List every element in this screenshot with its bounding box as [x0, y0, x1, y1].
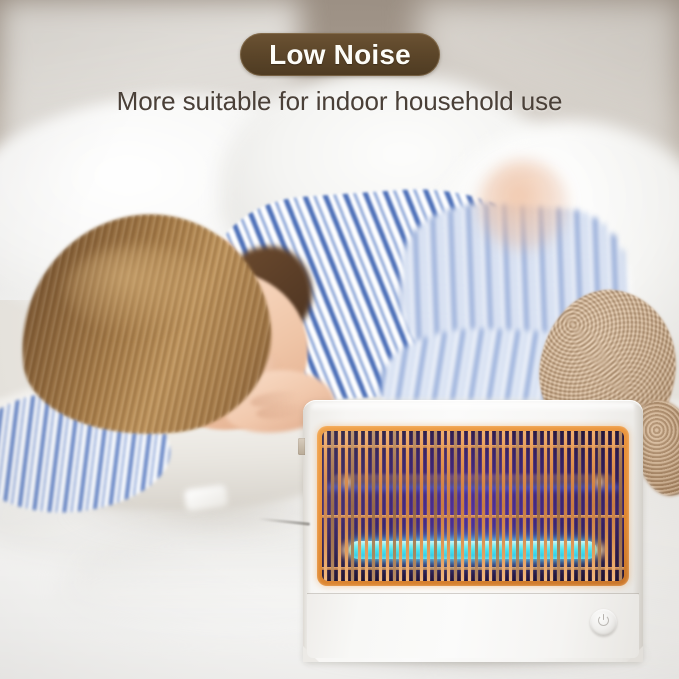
grille-bar	[413, 431, 416, 581]
grille-bar	[461, 431, 464, 581]
grille-bar	[557, 431, 560, 581]
low-noise-badge: Low Noise	[240, 33, 440, 76]
badge-label: Low Noise	[269, 41, 411, 69]
grille-bar	[331, 431, 334, 581]
grille-bar	[379, 431, 382, 581]
power-icon	[598, 615, 609, 626]
child-arm-blurred	[478, 160, 568, 250]
grille-bar	[502, 431, 505, 581]
grille-bar	[496, 431, 499, 581]
grille-bar	[454, 431, 457, 581]
grille-bar	[475, 431, 478, 581]
grille-bar	[427, 431, 430, 581]
device-top-highlight	[311, 403, 635, 412]
electric-grille	[322, 431, 624, 581]
grille-bar	[358, 431, 361, 581]
grille-bar	[365, 431, 368, 581]
grille-bar	[612, 431, 615, 581]
grille-bar	[585, 431, 588, 581]
grille-bar	[420, 431, 423, 581]
grille-bar	[345, 431, 348, 581]
grille-bar	[516, 431, 519, 581]
grille-bar	[324, 431, 327, 581]
grille-bar	[571, 431, 574, 581]
grille-bars	[322, 431, 624, 581]
grille-bar	[399, 431, 402, 581]
grille-bar	[441, 431, 444, 581]
grille-bar	[351, 431, 354, 581]
grille-bar	[578, 431, 581, 581]
grille-bar	[406, 431, 409, 581]
grille-bar	[338, 431, 341, 581]
grille-bar	[434, 431, 437, 581]
product-marketing-image: Low Noise More suitable for indoor house…	[0, 0, 679, 679]
grille-bar	[482, 431, 485, 581]
grille-bar	[537, 431, 540, 581]
subtitle-text: More suitable for indoor household use	[0, 86, 679, 117]
grille-bar	[393, 431, 396, 581]
grille-bar	[386, 431, 389, 581]
grille-bar	[530, 431, 533, 581]
power-button[interactable]	[590, 609, 617, 636]
grille-bar	[619, 431, 622, 581]
grille-bar	[605, 431, 608, 581]
grille-bar	[468, 431, 471, 581]
grille-bar	[509, 431, 512, 581]
grille-bar	[550, 431, 553, 581]
grille-bar	[544, 431, 547, 581]
grille-bar	[372, 431, 375, 581]
grille-bar	[592, 431, 595, 581]
grille-bar	[447, 431, 450, 581]
grille-bar	[598, 431, 601, 581]
child-hair-highlight	[65, 245, 215, 335]
bug-zapper-device	[303, 400, 643, 662]
lower-front-panel	[307, 594, 639, 658]
grille-bar	[489, 431, 492, 581]
device-side-tab	[298, 438, 305, 455]
grille-bar	[564, 431, 567, 581]
grille-bar	[523, 431, 526, 581]
